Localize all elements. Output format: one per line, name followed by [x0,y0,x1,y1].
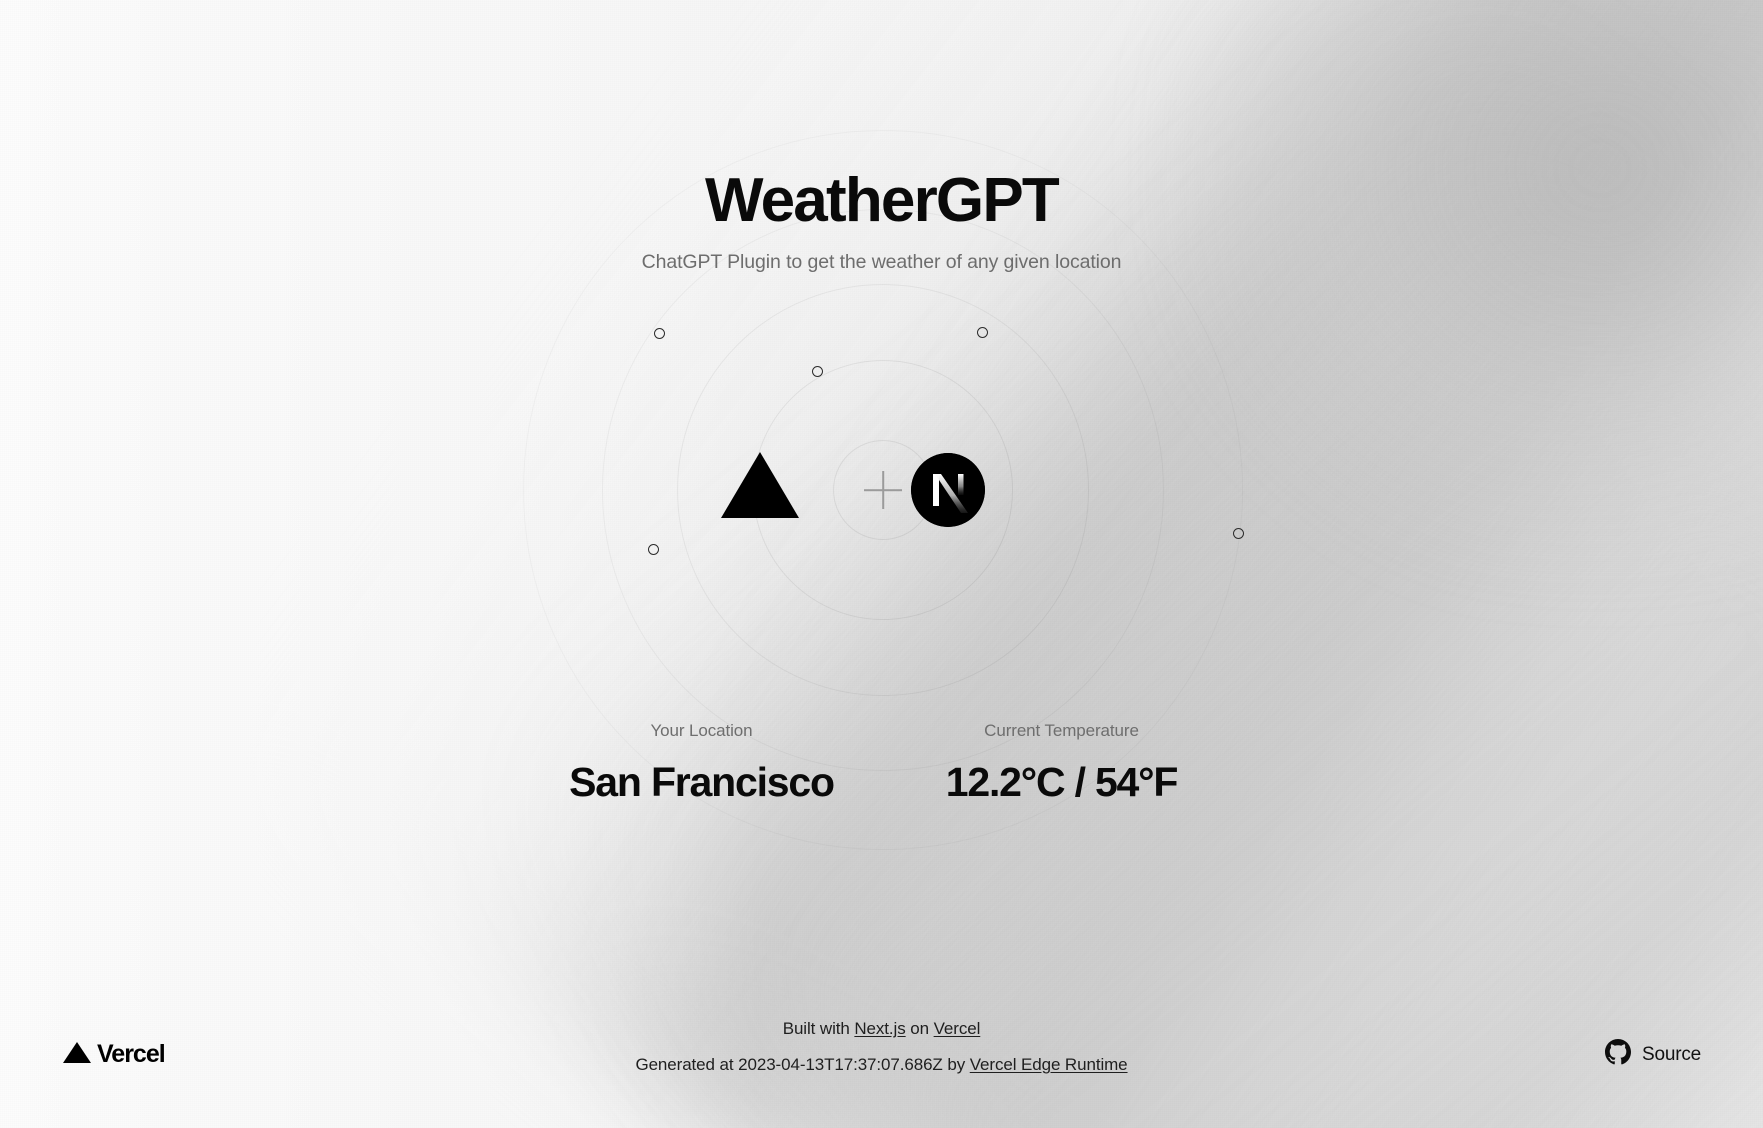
stat-label-temperature: Current Temperature [882,722,1242,739]
stat-value-location: San Francisco [522,760,882,805]
github-icon [1605,1039,1631,1070]
stats-row: Your Location San Francisco Current Temp… [0,722,1763,805]
stat-block-temperature: Current Temperature 12.2°C / 54°F [882,722,1242,805]
background-gradient-glow-top-right [1180,0,1763,560]
page-header: WeatherGPT ChatGPT Plugin to get the wea… [0,168,1763,274]
footer-built-with-line: Built with Next.js on Vercel [0,1020,1763,1037]
orbit-dot-icon [654,328,665,339]
orbit-dot-icon [1233,528,1244,539]
orbit-dot-icon [648,544,659,555]
vercel-logo-footer[interactable]: Vercel [62,1039,165,1070]
stat-value-temperature: 12.2°C / 54°F [882,760,1242,805]
stat-block-location: Your Location San Francisco [522,722,882,805]
vercel-link[interactable]: Vercel [934,1019,981,1038]
orbit-dot-icon [977,327,988,338]
plus-crosshair-icon [864,471,902,509]
vercel-triangle-icon [720,450,800,520]
vercel-triangle-icon [62,1039,92,1070]
nextjs-link[interactable]: Next.js [854,1019,905,1038]
page-subtitle: ChatGPT Plugin to get the weather of any… [0,251,1763,274]
footer-generated-middle: by [943,1055,970,1074]
source-link-footer[interactable]: Source [1605,1039,1701,1070]
footer-generated-line: Generated at 2023-04-13T17:37:07.686Z by… [0,1056,1763,1073]
footer-built-prefix: Built with [783,1019,855,1038]
nextjs-logo-icon [911,453,985,527]
vercel-wordmark-label: Vercel [97,1040,165,1069]
orbit-dot-icon [812,366,823,377]
source-link-label: Source [1642,1044,1701,1066]
footer-generated-prefix: Generated at [635,1055,738,1074]
footer-credits: Built with Next.js on Vercel Generated a… [0,1020,1763,1073]
stat-label-location: Your Location [522,722,882,739]
vercel-edge-runtime-link[interactable]: Vercel Edge Runtime [970,1055,1128,1074]
footer-generated-timestamp: 2023-04-13T17:37:07.686Z [738,1055,943,1074]
footer-built-middle: on [906,1019,934,1038]
page-title: WeatherGPT [0,168,1763,233]
